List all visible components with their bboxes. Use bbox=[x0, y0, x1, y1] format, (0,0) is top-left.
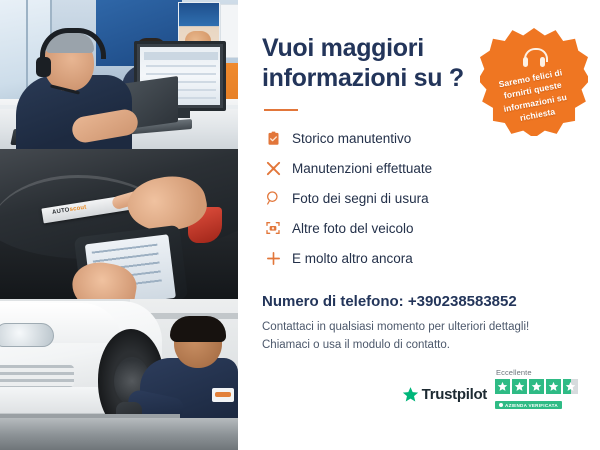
callout-badge: Saremo felici di fornirti queste informa… bbox=[480, 28, 588, 136]
magnifier-icon bbox=[262, 190, 284, 206]
car-inspection-photo: AUTOscout bbox=[0, 149, 238, 299]
star-box bbox=[546, 379, 561, 394]
contact-text: Contattaci in qualsiasi momento per ulte… bbox=[262, 319, 580, 355]
star-box bbox=[495, 379, 510, 394]
star-box-half bbox=[563, 379, 578, 394]
workshop-wheel-photo bbox=[0, 299, 238, 450]
list-item-label: Altre foto del veicolo bbox=[292, 221, 414, 236]
tools-cross-icon bbox=[262, 160, 284, 177]
list-item-label: E molto altro ancora bbox=[292, 251, 413, 266]
list-item-label: Storico manutentivo bbox=[292, 131, 411, 146]
trustpilot-badge[interactable]: Trustpilot Eccellente bbox=[402, 368, 578, 412]
content-panel: Vuoi maggioriinformazioni su ? Saremo fe… bbox=[238, 0, 600, 450]
verified-label: AZIENDA VERIFICATA bbox=[505, 403, 558, 408]
star-box bbox=[529, 379, 544, 394]
trustpilot-star-icon bbox=[402, 386, 419, 403]
headset-icon bbox=[523, 48, 545, 68]
star-box bbox=[512, 379, 527, 394]
call-center-photo bbox=[0, 0, 238, 149]
camera-frame-icon bbox=[262, 220, 284, 236]
headlight bbox=[0, 323, 54, 347]
promo-banner: AUTOscout bbox=[0, 0, 600, 450]
rating-label: Eccellente bbox=[496, 368, 578, 377]
clipboard-check-icon bbox=[262, 131, 284, 146]
check-icon bbox=[499, 403, 503, 407]
phone-number[interactable]: +390238583852 bbox=[408, 293, 517, 310]
trustpilot-logo: Trustpilot bbox=[402, 386, 487, 412]
list-item-label: Manutenzioni effettuate bbox=[292, 161, 432, 176]
uniform-logo bbox=[212, 388, 234, 402]
feature-list: Storico manutentivo Manutenzioni effettu… bbox=[262, 125, 580, 271]
grille bbox=[0, 365, 74, 387]
photo-column: AUTOscout bbox=[0, 0, 238, 450]
verified-badge: AZIENDA VERIFICATA bbox=[495, 401, 562, 409]
plus-icon bbox=[262, 250, 284, 267]
page-title: Vuoi maggioriinformazioni su ? bbox=[262, 34, 472, 93]
trustpilot-rating: Eccellente bbox=[495, 368, 578, 412]
list-item: Altre foto del veicolo bbox=[262, 215, 580, 241]
list-item: E molto altro ancora bbox=[262, 245, 580, 271]
contact-line-1: Contattaci in qualsiasi momento per ulte… bbox=[262, 319, 580, 337]
star-rating bbox=[495, 379, 578, 394]
list-item: Manutenzioni effettuate bbox=[262, 155, 580, 181]
contact-line-2: Chiamaci o usa il modulo di contatto. bbox=[262, 337, 580, 355]
list-item-label: Foto dei segni di usura bbox=[292, 191, 429, 206]
car-lift bbox=[0, 418, 238, 450]
phone-line: Numero di telefono: +390238583852 bbox=[262, 293, 580, 310]
phone-label: Numero di telefono: bbox=[262, 293, 404, 310]
list-item: Foto dei segni di usura bbox=[262, 185, 580, 211]
title-divider bbox=[264, 109, 298, 111]
trustpilot-wordmark: Trustpilot bbox=[422, 386, 487, 403]
